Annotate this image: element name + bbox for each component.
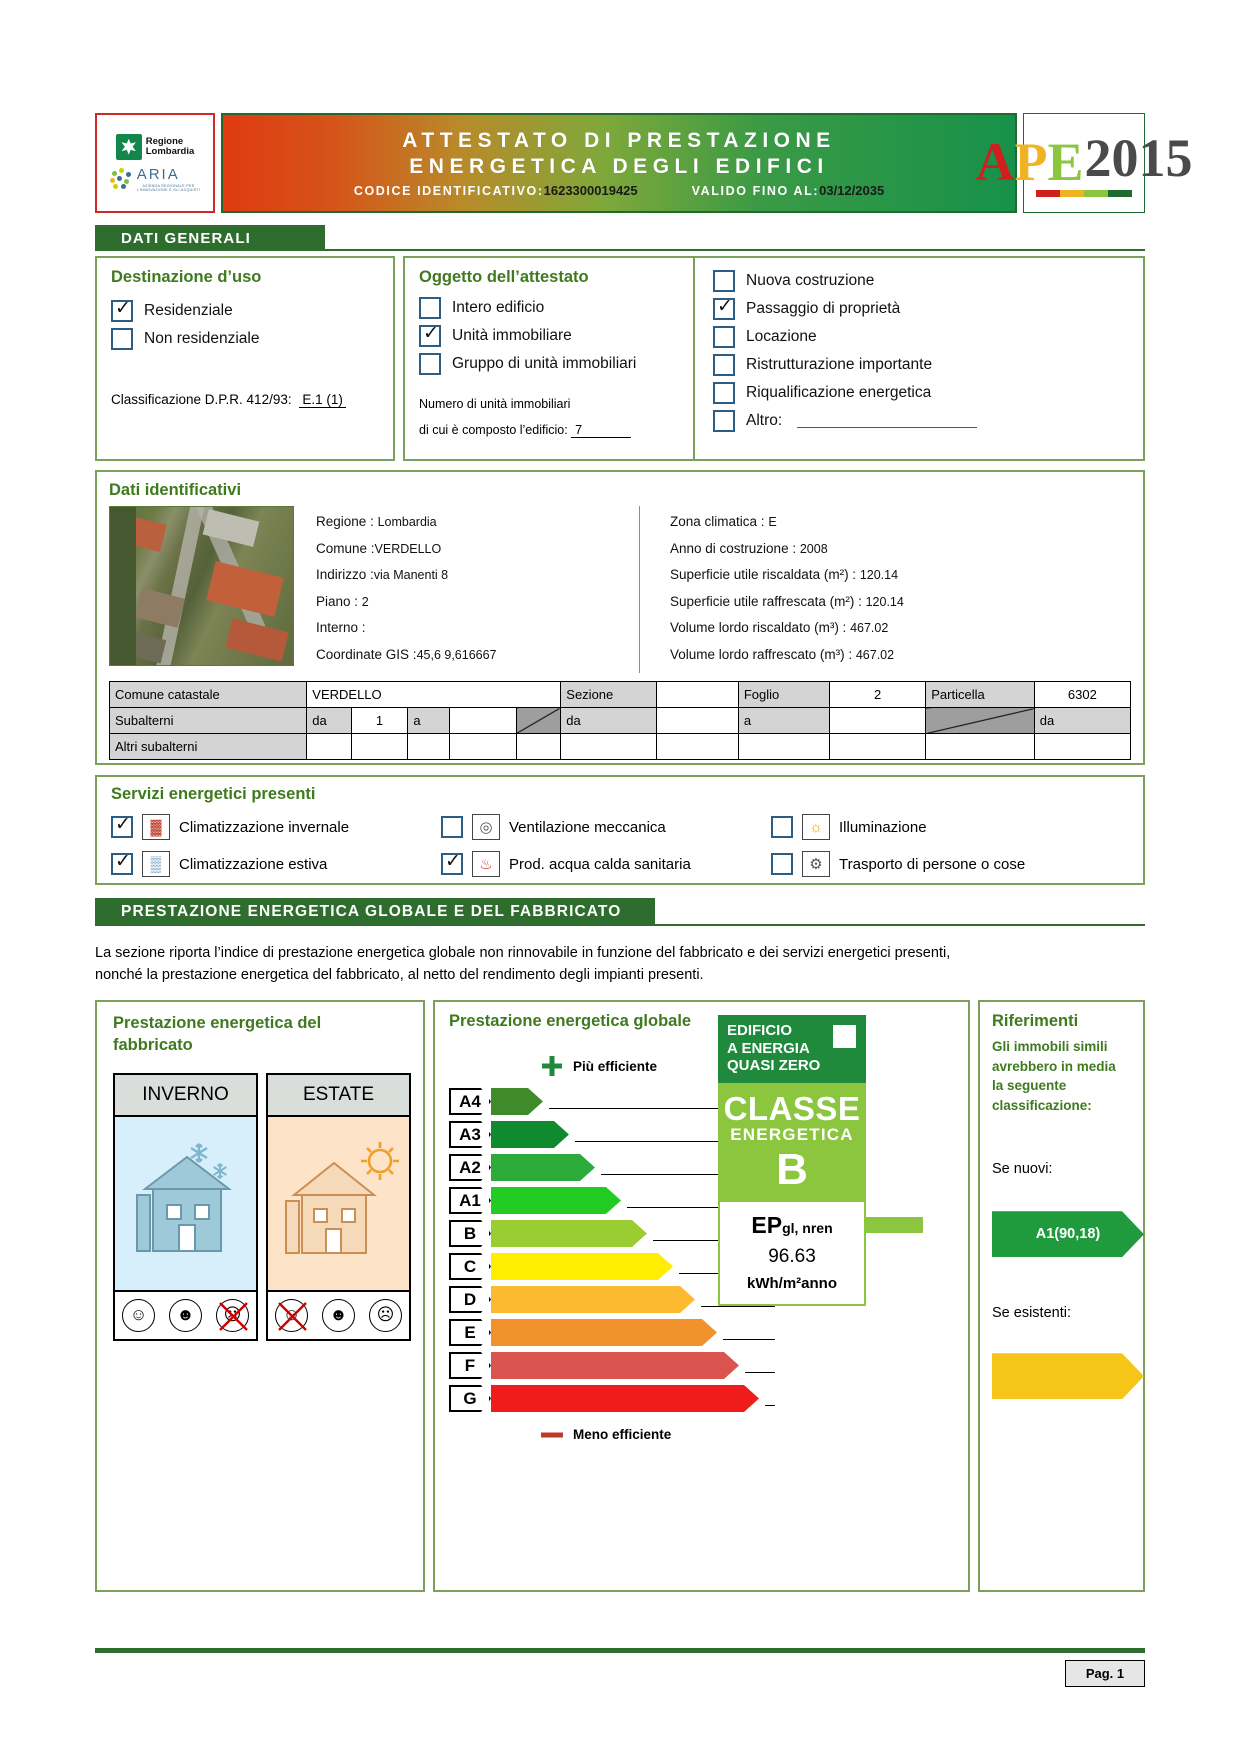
ep-body: EPgl, nren 96.63 kWh/m²anno — [718, 1202, 866, 1306]
nzeb-badge: EDIFICIO A ENERGIA QUASI ZERO — [718, 1015, 866, 1083]
neutral-face-icon: ☻ — [169, 1299, 202, 1332]
label-clima-estiva: Climatizzazione estiva — [179, 856, 327, 873]
kv-vol-risc-value: 467.02 — [850, 621, 888, 635]
aria-dots-icon — [110, 168, 134, 190]
intro-line-1: La sezione riporta l’indice di prestazio… — [95, 942, 1145, 964]
cell-sub-from-2[interactable] — [657, 708, 738, 734]
label-ventilazione: Ventilazione meccanica — [509, 819, 666, 836]
servizio-trasporto-persone[interactable]: ⚙ Trasporto di persone o cose — [771, 851, 1129, 877]
label-gruppo-unita: Gruppo di unità immobiliari — [452, 355, 636, 373]
valido-label: VALIDO FINO AL: — [692, 184, 819, 198]
classe-word: CLASSE — [722, 1092, 862, 1125]
checkbox-clima-invernale[interactable] — [111, 816, 133, 838]
frown-face-icon: ☹ — [369, 1299, 402, 1332]
label-residenziale: Residenziale — [144, 302, 233, 320]
kv-interno: Interno : — [316, 620, 639, 635]
gear-icon: ⚙ — [802, 851, 830, 877]
aria-word: ARIA — [137, 166, 180, 183]
ape-certificate-page: Regione Lombardia ARIA AZIENDA REGIONALE… — [0, 0, 1240, 1755]
kv-coordinate-value: 45,6 9,616667 — [417, 648, 497, 662]
cell-sub-da-1: da — [307, 708, 351, 734]
scale-tag-A4: A4 — [449, 1088, 491, 1115]
kv-anno-key: Anno di costruzione : — [670, 541, 796, 556]
scale-tag-F: F — [449, 1352, 491, 1379]
panel-dati-identificativi: Dati identificativi Regione : Lombardia — [95, 470, 1145, 765]
smiley-icon: ☺ — [122, 1299, 155, 1332]
kv-indirizzo-key: Indirizzo : — [316, 567, 374, 582]
ac-unit-icon: ▒ — [142, 851, 170, 877]
smiley-icon: ☺ — [275, 1299, 308, 1332]
servizio-acqua-calda-sanitaria[interactable]: ♨ Prod. acqua calda sanitaria — [441, 851, 771, 877]
cell-altri-7[interactable] — [657, 734, 738, 760]
servizi-grid: ▓ Climatizzazione invernale ◎ Ventilazio… — [111, 814, 1129, 877]
fabbricato-title-l2: fabbricato — [113, 1034, 407, 1056]
kv-sup-raff-value: 120.14 — [866, 595, 904, 609]
checkbox-non-residenziale[interactable] — [111, 328, 133, 350]
ape-letter-e: E — [1047, 140, 1083, 186]
oggetto-left: Oggetto dell’attestato Intero edificio U… — [405, 258, 695, 459]
kv-superficie-raffrescata: Superficie utile raffrescata (m²) : 120.… — [670, 594, 1131, 609]
cell-sub-diag-1 — [516, 708, 560, 734]
classe-letter-value: B — [722, 1145, 862, 1196]
minus-icon — [539, 1430, 565, 1440]
checkbox-illuminazione[interactable] — [771, 816, 793, 838]
cell-altri-11[interactable] — [1034, 734, 1130, 760]
panel-classe-energetica: EDIFICIO A ENERGIA QUASI ZERO CLASSE ENE… — [718, 1015, 866, 1306]
cell-altri-2[interactable] — [351, 734, 408, 760]
scale-line-E — [723, 1326, 775, 1340]
scale-line-G — [765, 1392, 775, 1406]
scale-bar-A3 — [491, 1121, 569, 1148]
checkbox-riqualificazione[interactable] — [713, 382, 735, 404]
label-intero-edificio: Intero edificio — [452, 299, 544, 317]
cell-altri-1[interactable] — [307, 734, 351, 760]
servizio-ventilazione-meccanica[interactable]: ◎ Ventilazione meccanica — [441, 814, 771, 840]
checkbox-altro[interactable] — [713, 410, 735, 432]
kv-sup-risc-key: Superficie utile riscaldata (m²) : — [670, 567, 856, 582]
checkbox-nuova-costruzione[interactable] — [713, 270, 735, 292]
scale-tag-E: E — [449, 1319, 491, 1346]
section-banner-prestazione: PRESTAZIONE ENERGETICA GLOBALE E DEL FAB… — [95, 898, 655, 926]
cell-altri-9[interactable] — [830, 734, 926, 760]
banner-rule-1 — [95, 249, 1145, 251]
checkbox-row-gruppo-unita[interactable]: Gruppo di unità immobiliari — [419, 353, 679, 375]
ape-logo: A P E 2015 — [1023, 113, 1145, 213]
cell-sub-da-2: da — [561, 708, 657, 734]
ep-label: EP — [751, 1212, 782, 1238]
fabbricato-cards: INVERNO — [113, 1073, 407, 1341]
title-line-2: ENERGETICA DEGLI EDIFICI — [223, 154, 1015, 180]
cell-altri-subalterni-label: Altri subalterni — [110, 734, 307, 760]
classe-body: CLASSE ENERGETICA B — [718, 1083, 866, 1202]
ep-value: 96.63 — [724, 1246, 860, 1268]
kv-interno-key: Interno : — [316, 620, 366, 635]
label-unita-immobiliare: Unità immobiliare — [452, 327, 572, 345]
section-banner-dati-generali: DATI GENERALI — [95, 225, 325, 251]
table-row-altri-subalterni: Altri subalterni — [110, 734, 1131, 760]
aria-logo-row: ARIA AZIENDA REGIONALE PER L'INNOVAZIONE… — [110, 166, 201, 193]
kv-regione-key: Regione : — [316, 514, 374, 529]
kv-anno-value: 2008 — [800, 542, 828, 556]
cell-altri-5[interactable] — [516, 734, 560, 760]
chart-bottom-note: Meno efficiente — [539, 1427, 954, 1442]
cell-altri-4[interactable] — [450, 734, 517, 760]
ape-color-bar — [1036, 190, 1132, 197]
frown-face-icon: ☹ — [216, 1299, 249, 1332]
kv-vol-raff-value: 467.02 — [856, 648, 894, 662]
destinazione-options: Residenziale Non residenziale — [111, 300, 379, 350]
label-illuminazione: Illuminazione — [839, 819, 927, 836]
scale-bar-B — [491, 1220, 647, 1247]
riferimenti-title: Riferimenti — [992, 1012, 1131, 1031]
cell-foglio-value[interactable]: 2 — [830, 682, 926, 708]
valido-value: 03/12/2035 — [819, 183, 884, 198]
neutral-face-icon: ☻ — [322, 1299, 355, 1332]
scale-bar-E — [491, 1319, 717, 1346]
kv-sup-risc-value: 120.14 — [860, 568, 898, 582]
destinazione-title: Destinazione d’uso — [111, 268, 379, 287]
winter-house-icon — [115, 1117, 260, 1292]
cell-comune-catastale-value[interactable]: VERDELLO — [307, 682, 561, 708]
intro-paragraph: La sezione riporta l’indice di prestazio… — [95, 942, 1145, 986]
checkbox-ventilazione[interactable] — [441, 816, 463, 838]
kv-zona-climatica: Zona climatica : E — [670, 514, 1131, 529]
ape-letters: A P E 2015 — [1024, 114, 1144, 186]
scale-row-G: G — [449, 1382, 779, 1415]
estate-faces: ☺ ☻ ☹ — [268, 1292, 409, 1339]
fabbricato-title: Prestazione energetica del fabbricato — [113, 1012, 407, 1057]
kv-anno-costruzione: Anno di costruzione : 2008 — [670, 541, 1131, 556]
title-banner: ATTESTATO DI PRESTAZIONE ENERGETICA DEGL… — [221, 113, 1017, 213]
ape-letter-a: A — [975, 140, 1014, 186]
cell-sub-from-1[interactable]: 1 — [351, 708, 408, 734]
kv-indirizzo: Indirizzo :via Manenti 8 — [316, 567, 639, 582]
checkbox-passaggio-proprieta[interactable] — [713, 298, 735, 320]
se-nuovi-badge: A1(90,18) — [992, 1211, 1144, 1257]
regione-line2: Lombardia — [146, 146, 195, 157]
label-locazione: Locazione — [746, 328, 817, 346]
scale-tag-A1: A1 — [449, 1187, 491, 1214]
identificativi-title: Dati identificativi — [109, 481, 1131, 500]
identificativi-body: Regione : Lombardia Comune :VERDELLO Ind… — [109, 506, 1131, 673]
cell-sub-diag-2 — [926, 708, 1035, 734]
estate-header: ESTATE — [268, 1075, 409, 1117]
inverno-faces: ☺ ☻ ☹ — [115, 1292, 256, 1339]
riferimenti-intro-l1: Gli immobili simili — [992, 1037, 1131, 1057]
kv-indirizzo-value: via Manenti 8 — [374, 568, 448, 582]
oggetto-title: Oggetto dell’attestato — [419, 268, 679, 287]
classificazione-row: Classificazione D.P.R. 412/93: E.1 (1) — [111, 392, 379, 407]
scale-tag-B: B — [449, 1220, 491, 1247]
kv-volume-raffrescato: Volume lordo raffrescato (m³) : 467.02 — [670, 647, 1131, 662]
scale-row-E: E — [449, 1316, 779, 1349]
label-riqualificazione: Riqualificazione energetica — [746, 384, 931, 402]
aria-sub2: L'INNOVAZIONE E GLI ACQUISTI — [137, 188, 201, 192]
face-inverno-neutral: ☻ — [162, 1292, 209, 1339]
inverno-header: INVERNO — [115, 1075, 256, 1117]
cell-foglio-label: Foglio — [738, 682, 829, 708]
face-estate-frown: ☹ — [362, 1292, 409, 1339]
label-clima-invernale: Climatizzazione invernale — [179, 819, 349, 836]
checkbox-acqua-calda[interactable] — [441, 853, 463, 875]
satellite-map-thumbnail — [109, 506, 294, 666]
numero-unita-label-1: Numero di unità immobiliari — [419, 397, 679, 411]
kv-vol-risc-key: Volume lordo riscaldato (m³) : — [670, 620, 846, 635]
label-nuova-costruzione: Nuova costruzione — [746, 272, 874, 290]
aria-logo-text: ARIA AZIENDA REGIONALE PER L'INNOVAZIONE… — [137, 166, 201, 193]
checkbox-row-altro[interactable]: Altro: — [713, 410, 1125, 432]
checkbox-intero-edificio[interactable] — [419, 297, 441, 319]
classificazione-label: Classificazione D.P.R. 412/93: — [111, 392, 292, 407]
scale-bar-A4 — [491, 1088, 543, 1115]
piu-efficiente-label: Più efficiente — [573, 1059, 657, 1074]
face-estate-smile-crossed: ☺ — [268, 1292, 315, 1339]
panel-servizi-energetici: Servizi energetici presenti ▓ Climatizza… — [95, 775, 1145, 885]
kv-regione-value: Lombardia — [378, 515, 437, 529]
cross-out-icon — [275, 1299, 310, 1334]
label-ristrutturazione: Ristrutturazione importante — [746, 356, 932, 374]
nzeb-line-3: QUASI ZERO — [727, 1057, 858, 1075]
scale-tag-G: G — [449, 1385, 491, 1412]
scale-bar-D — [491, 1286, 695, 1313]
label-altro: Altro: — [746, 412, 782, 430]
panel-oggetto-attestato: Oggetto dell’attestato Intero edificio U… — [403, 256, 1145, 461]
fan-icon: ◎ — [472, 814, 500, 840]
kv-comune-value: VERDELLO — [375, 542, 442, 556]
scale-tag-A2: A2 — [449, 1154, 491, 1181]
cell-sub-da-3: da — [1034, 708, 1130, 734]
servizio-illuminazione[interactable]: ☼ Illuminazione — [771, 814, 1129, 840]
kv-comune-key: Comune : — [316, 541, 375, 556]
cell-particella-value[interactable]: 6302 — [1034, 682, 1130, 708]
lamp-icon: ☼ — [802, 814, 830, 840]
meno-efficiente-label: Meno efficiente — [573, 1427, 671, 1442]
identificativi-left-list: Regione : Lombardia Comune :VERDELLO Ind… — [294, 506, 639, 673]
cell-sezione-value[interactable] — [657, 682, 738, 708]
checkbox-row-unita-immobiliare[interactable]: Unità immobiliare — [419, 325, 679, 347]
summer-house-icon — [268, 1117, 413, 1292]
kv-vol-raff-key: Volume lordo raffrescato (m³) : — [670, 647, 852, 662]
footer-rule — [95, 1648, 1145, 1653]
face-estate-neutral: ☻ — [315, 1292, 362, 1339]
checkbox-row-intero-edificio[interactable]: Intero edificio — [419, 297, 679, 319]
checkbox-row-passaggio-proprieta[interactable]: Passaggio di proprietà — [713, 298, 1125, 320]
servizio-climatizzazione-estiva[interactable]: ▒ Climatizzazione estiva — [111, 851, 441, 877]
panel-riferimenti: Riferimenti Gli immobili simili avrebber… — [978, 1000, 1145, 1592]
scale-bar-A2 — [491, 1154, 595, 1181]
cell-altri-8[interactable] — [738, 734, 829, 760]
regione-logo-row: Regione Lombardia — [116, 134, 195, 160]
cell-subalterni-label: Subalterni — [110, 708, 307, 734]
title-line-1: ATTESTATO DI PRESTAZIONE — [223, 128, 1015, 154]
document-header: Regione Lombardia ARIA AZIENDA REGIONALE… — [95, 113, 1145, 213]
numero-unita-block: Numero di unità immobiliari di cui è com… — [419, 397, 679, 438]
oggetto-right-motivo: Nuova costruzione Passaggio di proprietà… — [695, 258, 1143, 459]
regione-lombardia-logo: Regione Lombardia ARIA AZIENDA REGIONALE… — [95, 113, 215, 213]
kv-comune: Comune :VERDELLO — [316, 541, 639, 556]
cross-out-icon — [216, 1299, 251, 1334]
table-row-subalterni: Subalterni da 1 a da a da — [110, 708, 1131, 734]
estate-illustration — [268, 1117, 409, 1292]
codice-identificativo: CODICE IDENTIFICATIVO:1623300019425 — [354, 182, 638, 200]
se-esistenti-label: Se esistenti: — [992, 1305, 1131, 1321]
servizi-title: Servizi energetici presenti — [111, 785, 1129, 804]
checkbox-ristrutturazione[interactable] — [713, 354, 735, 376]
codice-label: CODICE IDENTIFICATIVO: — [354, 184, 544, 198]
cell-sub-a-2: a — [738, 708, 829, 734]
cell-sub-to-2[interactable] — [830, 708, 926, 734]
kv-zona-value: E — [768, 515, 776, 529]
se-esistenti-badge — [992, 1353, 1144, 1399]
inverno-illustration — [115, 1117, 256, 1292]
sun-icon — [361, 1142, 399, 1180]
cell-altri-10[interactable] — [926, 734, 1035, 760]
regione-logo-text: Regione Lombardia — [146, 137, 195, 157]
checkbox-row-riqualificazione[interactable]: Riqualificazione energetica — [713, 382, 1125, 404]
label-passaggio-proprieta: Passaggio di proprietà — [746, 300, 900, 318]
scale-bar-A1 — [491, 1187, 621, 1214]
scale-bar-G — [491, 1385, 759, 1412]
cadastral-table: Comune catastale VERDELLO Sezione Foglio… — [109, 681, 1131, 760]
intro-line-2: nonché la prestazione energetica del fab… — [95, 964, 1145, 986]
servizio-climatizzazione-invernale[interactable]: ▓ Climatizzazione invernale — [111, 814, 441, 840]
checkbox-unita-immobiliare[interactable] — [419, 325, 441, 347]
ape-year: 2015 — [1085, 136, 1193, 182]
valido-fino-al: VALIDO FINO AL:03/12/2035 — [692, 182, 885, 200]
scale-row-F: F — [449, 1349, 779, 1382]
riferimenti-intro-l4: classificazione: — [992, 1096, 1131, 1116]
scale-tag-D: D — [449, 1286, 491, 1313]
checkbox-row-locazione[interactable]: Locazione — [713, 326, 1125, 348]
kv-piano: Piano : 2 — [316, 594, 639, 609]
kv-coordinate-key: Coordinate GIS : — [316, 647, 417, 662]
kv-volume-riscaldato: Volume lordo riscaldato (m³) : 467.02 — [670, 620, 1131, 635]
ep-label-row: EPgl, nren — [724, 1212, 860, 1239]
banner-rule-2 — [95, 924, 1145, 926]
chart-title: Prestazione energetica globale — [449, 1012, 954, 1031]
cell-altri-3[interactable] — [408, 734, 450, 760]
numero-unita-label-2: di cui è composto l’edificio: — [419, 423, 568, 437]
cell-particella-label: Particella — [926, 682, 1035, 708]
ep-unit: kWh/m²anno — [724, 1275, 860, 1292]
numero-unita-value[interactable]: 7 — [571, 423, 631, 438]
ape-letter-p: P — [1014, 140, 1047, 186]
riferimenti-intro-l3: la seguente — [992, 1076, 1131, 1096]
scale-tag-C: C — [449, 1253, 491, 1280]
lombardia-rose-icon — [116, 134, 142, 160]
kv-piano-key: Piano : — [316, 594, 358, 609]
card-inverno: INVERNO — [113, 1073, 258, 1341]
identificativi-right-list: Zona climatica : E Anno di costruzione :… — [639, 506, 1131, 673]
card-estate: ESTATE — [266, 1073, 411, 1341]
header-codes: CODICE IDENTIFICATIVO:1623300019425 VALI… — [223, 182, 1015, 200]
cell-comune-catastale-label: Comune catastale — [110, 682, 307, 708]
ep-sublabel: gl, nren — [782, 1220, 833, 1236]
table-row-header: Comune catastale VERDELLO Sezione Foglio… — [110, 682, 1131, 708]
checkbox-residenziale[interactable] — [111, 300, 133, 322]
checkbox-trasporto[interactable] — [771, 853, 793, 875]
face-inverno-smile: ☺ — [115, 1292, 162, 1339]
kv-coordinate-gis: Coordinate GIS :45,6 9,616667 — [316, 647, 639, 662]
scale-line-F — [745, 1359, 775, 1373]
checkbox-row-non-residenziale[interactable]: Non residenziale — [111, 328, 379, 350]
label-acqua-calda: Prod. acqua calda sanitaria — [509, 856, 691, 873]
riferimenti-intro: Gli immobili simili avrebbero in media l… — [992, 1037, 1131, 1115]
classificazione-value[interactable]: E.1 (1) — [299, 392, 346, 408]
checkbox-clima-estiva[interactable] — [111, 853, 133, 875]
checkbox-row-ristrutturazione[interactable]: Ristrutturazione importante — [713, 354, 1125, 376]
panel-destinazione-uso: Destinazione d’uso Residenziale Non resi… — [95, 256, 395, 461]
codice-value: 1623300019425 — [544, 183, 638, 198]
se-nuovi-label: Se nuovi: — [992, 1161, 1131, 1177]
kv-regione: Regione : Lombardia — [316, 514, 639, 529]
checkbox-locazione[interactable] — [713, 326, 735, 348]
label-non-residenziale: Non residenziale — [144, 330, 259, 348]
kv-zona-key: Zona climatica : — [670, 514, 765, 529]
kv-piano-value: 2 — [362, 595, 369, 609]
checkbox-gruppo-unita[interactable] — [419, 353, 441, 375]
scale-bar-F — [491, 1352, 739, 1379]
kv-superficie-riscaldata: Superficie utile riscaldata (m²) : 120.1… — [670, 567, 1131, 582]
checkbox-row-nuova-costruzione[interactable]: Nuova costruzione — [713, 270, 1125, 292]
cadastral-table-wrap: Comune catastale VERDELLO Sezione Foglio… — [109, 681, 1131, 760]
scale-tag-A3: A3 — [449, 1121, 491, 1148]
fabbricato-title-l1: Prestazione energetica del — [113, 1012, 407, 1034]
radiator-icon: ▓ — [142, 814, 170, 840]
cell-altri-6[interactable] — [561, 734, 657, 760]
plus-icon — [539, 1053, 565, 1079]
cell-sub-a-1: a — [408, 708, 450, 734]
page-number-badge: Pag. 1 — [1065, 1660, 1145, 1687]
cell-sezione-label: Sezione — [561, 682, 657, 708]
panel-prestazione-globale: Prestazione energetica globale Più effic… — [433, 1000, 970, 1592]
riferimenti-intro-l2: avrebbero in media — [992, 1057, 1131, 1077]
kv-sup-raff-key: Superficie utile raffrescata (m²) : — [670, 594, 862, 609]
altro-input-line[interactable] — [797, 414, 977, 428]
faucet-icon: ♨ — [472, 851, 500, 877]
energetica-word: ENERGETICA — [722, 1125, 862, 1145]
nzeb-checkbox[interactable] — [832, 1024, 857, 1049]
face-inverno-frown-crossed: ☹ — [209, 1292, 256, 1339]
scale-bar-C — [491, 1253, 673, 1280]
cell-sub-to-1[interactable] — [450, 708, 517, 734]
panel-prestazione-fabbricato: Prestazione energetica del fabbricato IN… — [95, 1000, 425, 1592]
checkbox-row-residenziale[interactable]: Residenziale — [111, 300, 379, 322]
label-trasporto: Trasporto di persone o cose — [839, 856, 1025, 873]
